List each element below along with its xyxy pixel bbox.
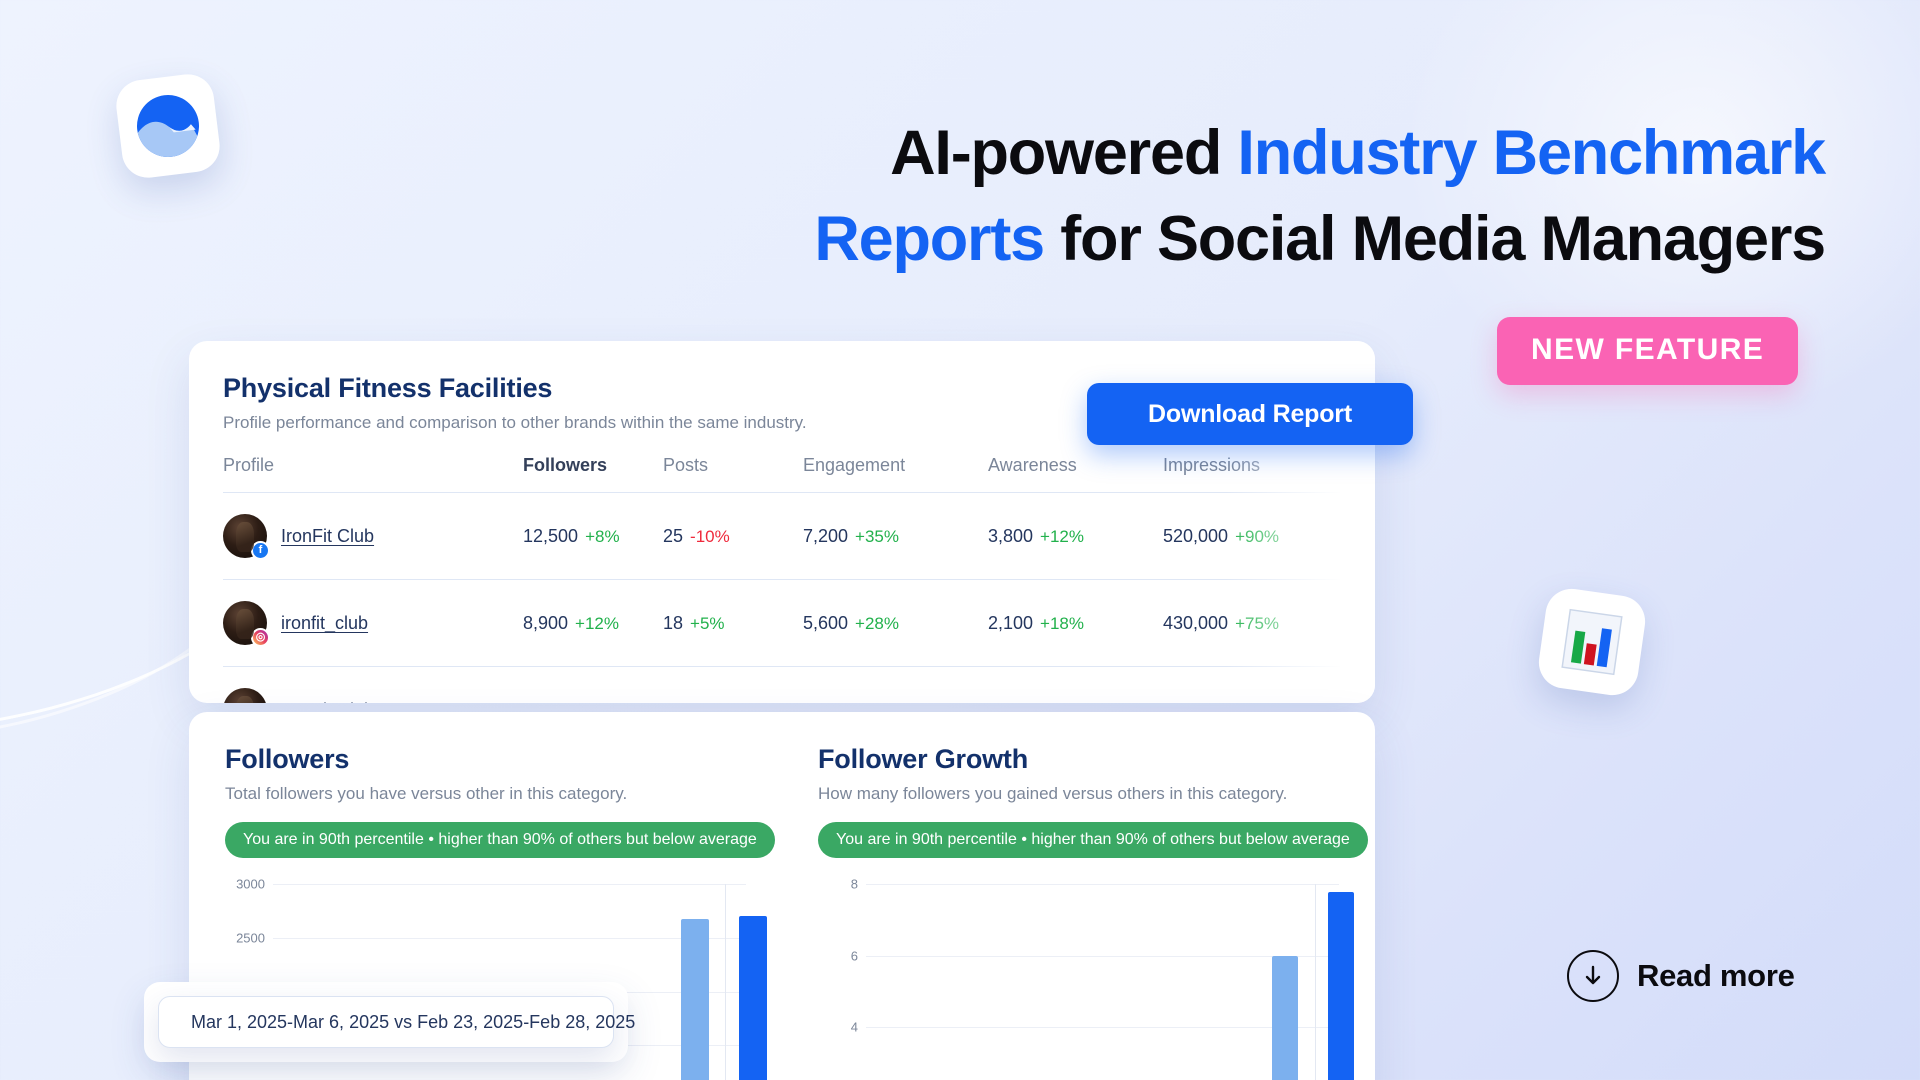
cell-followers: 15,300+6% [523,667,663,704]
value-engagement: 9,400 [803,700,848,704]
value-followers: 12,500 [523,526,578,546]
column-header-posts[interactable]: Posts [663,455,803,493]
bar-chart-app-icon [1536,586,1649,699]
y-tick-label: 4 [818,1020,858,1035]
cell-posts: 25-10% [663,493,803,580]
y-tick-label: 8 [818,877,858,892]
value-followers: 15,300 [523,700,578,704]
y-tick-label: 6 [818,948,858,963]
growth-plot: 8 6 4 2 [818,884,1339,1080]
delta-posts: +5% [690,614,725,633]
column-header-impressions[interactable]: Impressions [1163,455,1341,493]
delta-awareness: +12% [1040,527,1084,546]
date-range-picker[interactable]: Mar 1, 2025-Mar 6, 2025 vs Feb 23, 2025-… [158,996,614,1048]
growth-percentile-badge: You are in 90th percentile • higher than… [818,822,1368,858]
column-header-awareness[interactable]: Awareness [988,455,1163,493]
chart-divider [1315,884,1316,1080]
cell-engagement: 7,200+35% [803,493,988,580]
headline-accent-2: Reports [814,204,1044,274]
delta-followers: +12% [575,614,619,633]
delta-followers: +6% [585,701,620,704]
value-posts: 22 [663,700,683,704]
delta-posts: -15% [690,701,730,704]
page-title: AI-powered Industry Benchmark Reports fo… [560,110,1825,282]
delta-engagement: +50% [855,701,899,704]
delta-impressions: +100% [1235,701,1288,704]
delta-awareness: -3% [1040,701,1070,704]
followers-panel-subtitle: Total followers you have versus other in… [225,784,746,804]
followers-panel-title: Followers [225,744,746,775]
growth-panel-title: Follower Growth [818,744,1339,775]
benchmark-table: Profile Followers Posts Engagement Aware… [223,455,1341,703]
y-tick-label: 2500 [225,930,265,945]
cell-awareness: 2,100+18% [988,580,1163,667]
value-awareness: 3,800 [988,526,1033,546]
wave-circle-logo-icon [131,89,205,163]
instagram-icon: ◎ [251,628,270,647]
new-feature-badge: NEW FEATURE [1497,317,1798,385]
facebook-icon: f [251,541,270,560]
avatar: f [223,514,267,558]
cell-engagement: 5,600+28% [803,580,988,667]
value-engagement: 7,200 [803,526,848,546]
value-posts: 25 [663,526,683,546]
cell-profile: ◎ ironfit_club [223,580,523,667]
table-row: ◎ ironfit_club 8,900+12% 18+5% 5,600+28%… [223,580,1341,667]
delta-engagement: +28% [855,614,899,633]
headline-accent-1: Industry Benchmark [1237,118,1825,188]
cell-posts: 18+5% [663,580,803,667]
delta-engagement: +35% [855,527,899,546]
bar-you [1328,892,1354,1080]
value-impressions: 610,000 [1163,700,1228,704]
cell-impressions: 520,000+90% [1163,493,1341,580]
read-more-link[interactable]: Read more [1567,950,1795,1002]
growth-bars [866,884,1339,1080]
cell-followers: 8,900+12% [523,580,663,667]
delta-posts: -10% [690,527,730,546]
column-header-engagement[interactable]: Engagement [803,455,988,493]
follower-growth-chart-panel: Follower Growth How many followers you g… [782,744,1375,1080]
cell-posts: 22-15% [663,667,803,704]
avatar: in [223,688,267,703]
headline-plain-1: AI-powered [890,118,1237,188]
cell-impressions: 610,000+100% [1163,667,1341,704]
app-logo [113,71,222,180]
delta-followers: +8% [585,527,620,546]
profile-name-link[interactable]: IronFit Club [281,526,374,547]
followers-percentile-badge: You are in 90th percentile • higher than… [225,822,775,858]
cell-profile: in IronFit Club [223,667,523,704]
table-header-row: Profile Followers Posts Engagement Aware… [223,455,1341,493]
delta-awareness: +18% [1040,614,1084,633]
download-report-button[interactable]: Download Report [1087,383,1413,445]
date-range-value: Mar 1, 2025-Mar 6, 2025 vs Feb 23, 2025-… [191,1012,635,1033]
table-row: f IronFit Club 12,500+8% 25-10% 7,200+35… [223,493,1341,580]
value-posts: 18 [663,613,683,633]
column-header-followers[interactable]: Followers [523,455,663,493]
delta-impressions: +75% [1235,614,1279,633]
read-more-label: Read more [1637,958,1795,994]
bar-you [739,916,767,1080]
bar-other-2 [681,919,709,1080]
profile-name-link[interactable]: IronFit Club [281,700,374,704]
arrow-down-circle-icon [1567,950,1619,1002]
value-awareness: 4,500 [988,700,1033,704]
column-header-profile[interactable]: Profile [223,455,523,493]
table-row: in IronFit Club 15,300+6% 22-15% 9,400+5… [223,667,1341,704]
cell-engagement: 9,400+50% [803,667,988,704]
y-tick-label: 3000 [225,877,265,892]
delta-impressions: +90% [1235,527,1279,546]
cell-awareness: 4,500-3% [988,667,1163,704]
avatar: ◎ [223,601,267,645]
value-awareness: 2,100 [988,613,1033,633]
value-impressions: 430,000 [1163,613,1228,633]
chart-divider [725,884,726,1080]
bar-other [1272,956,1298,1080]
value-impressions: 520,000 [1163,526,1228,546]
headline-plain-2: for Social Media Managers [1044,204,1825,274]
cell-awareness: 3,800+12% [988,493,1163,580]
growth-panel-subtitle: How many followers you gained versus oth… [818,784,1339,804]
cell-impressions: 430,000+75% [1163,580,1341,667]
profile-name-link[interactable]: ironfit_club [281,613,368,634]
value-followers: 8,900 [523,613,568,633]
bar-chart-icon [1560,607,1624,676]
value-engagement: 5,600 [803,613,848,633]
cell-profile: f IronFit Club [223,493,523,580]
cell-followers: 12,500+8% [523,493,663,580]
